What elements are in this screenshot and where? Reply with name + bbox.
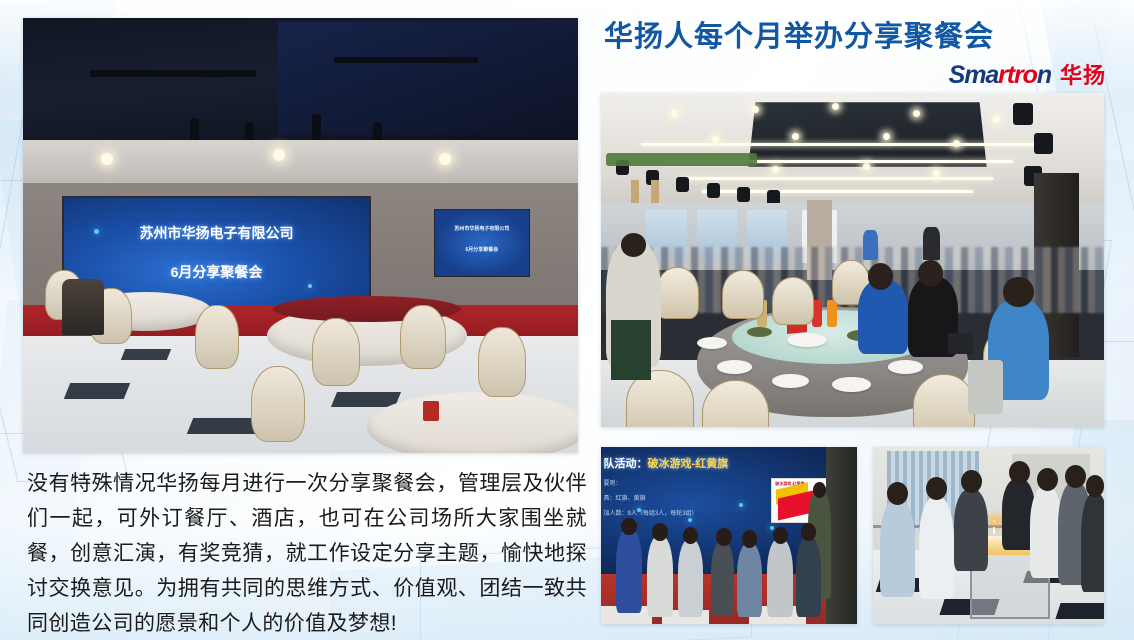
page-title: 华扬人每个月举办分享聚餐会 xyxy=(604,22,1114,53)
icebreaker-title-highlight: 破冰游戏-红黄旗 xyxy=(648,458,729,470)
photo-icebreaker-game: 队活动：破冰游戏-红黄旗 要则： 具：红旗、黄旗 加人数：9人（每组3人，每轮3… xyxy=(601,447,857,624)
led-screen-secondary-line1: 苏州市华扬电子有限公司 xyxy=(435,225,529,232)
brand-logo: Sma rtro n 华扬 xyxy=(949,58,1106,90)
led-screen-secondary: 苏州市华扬电子有限公司 6月分享聚餐会 xyxy=(434,209,530,276)
led-screen-secondary-line2: 6月分享聚餐会 xyxy=(435,246,529,253)
photo-hall-led-screen: 苏州市华扬电子有限公司 6月分享聚餐会 苏州市华扬电子有限公司 6月分享聚餐会 xyxy=(23,18,578,453)
icebreaker-screen-title: 队活动：破冰游戏-红黄旗 xyxy=(604,455,729,471)
slide-header: 华扬人每个月举办分享聚餐会 Sma rtro n 华扬 xyxy=(604,22,1114,53)
led-screen-line2: 6月分享聚餐会 xyxy=(64,262,369,282)
icebreaker-screen-line1: 要则： xyxy=(604,478,622,487)
presentation-slide: 华扬人每个月举办分享聚餐会 Sma rtro n 华扬 xyxy=(0,0,1134,640)
icebreaker-screen-line2: 具：红旗、黄旗 xyxy=(604,493,646,502)
logo-text-part3: n xyxy=(1037,61,1051,90)
photo-birthday-cake xyxy=(873,447,1104,624)
logo-text-chinese: 华扬 xyxy=(1060,58,1106,90)
photo-banquet-large xyxy=(601,93,1104,427)
logo-text-part1: Sma xyxy=(949,61,999,90)
body-paragraph: 没有特殊情况华扬每月进行一次分享聚餐会，管理层及伙伴们一起，可外订餐厅、酒店，也… xyxy=(27,466,587,640)
icebreaker-screen-line3: 加人数：9人（每组3人，每轮3组） xyxy=(604,508,698,517)
logo-text-part2: rtro xyxy=(998,61,1037,90)
led-screen-line1: 苏州市华扬电子有限公司 xyxy=(64,223,369,243)
icebreaker-title-prefix: 队活动： xyxy=(604,458,648,470)
